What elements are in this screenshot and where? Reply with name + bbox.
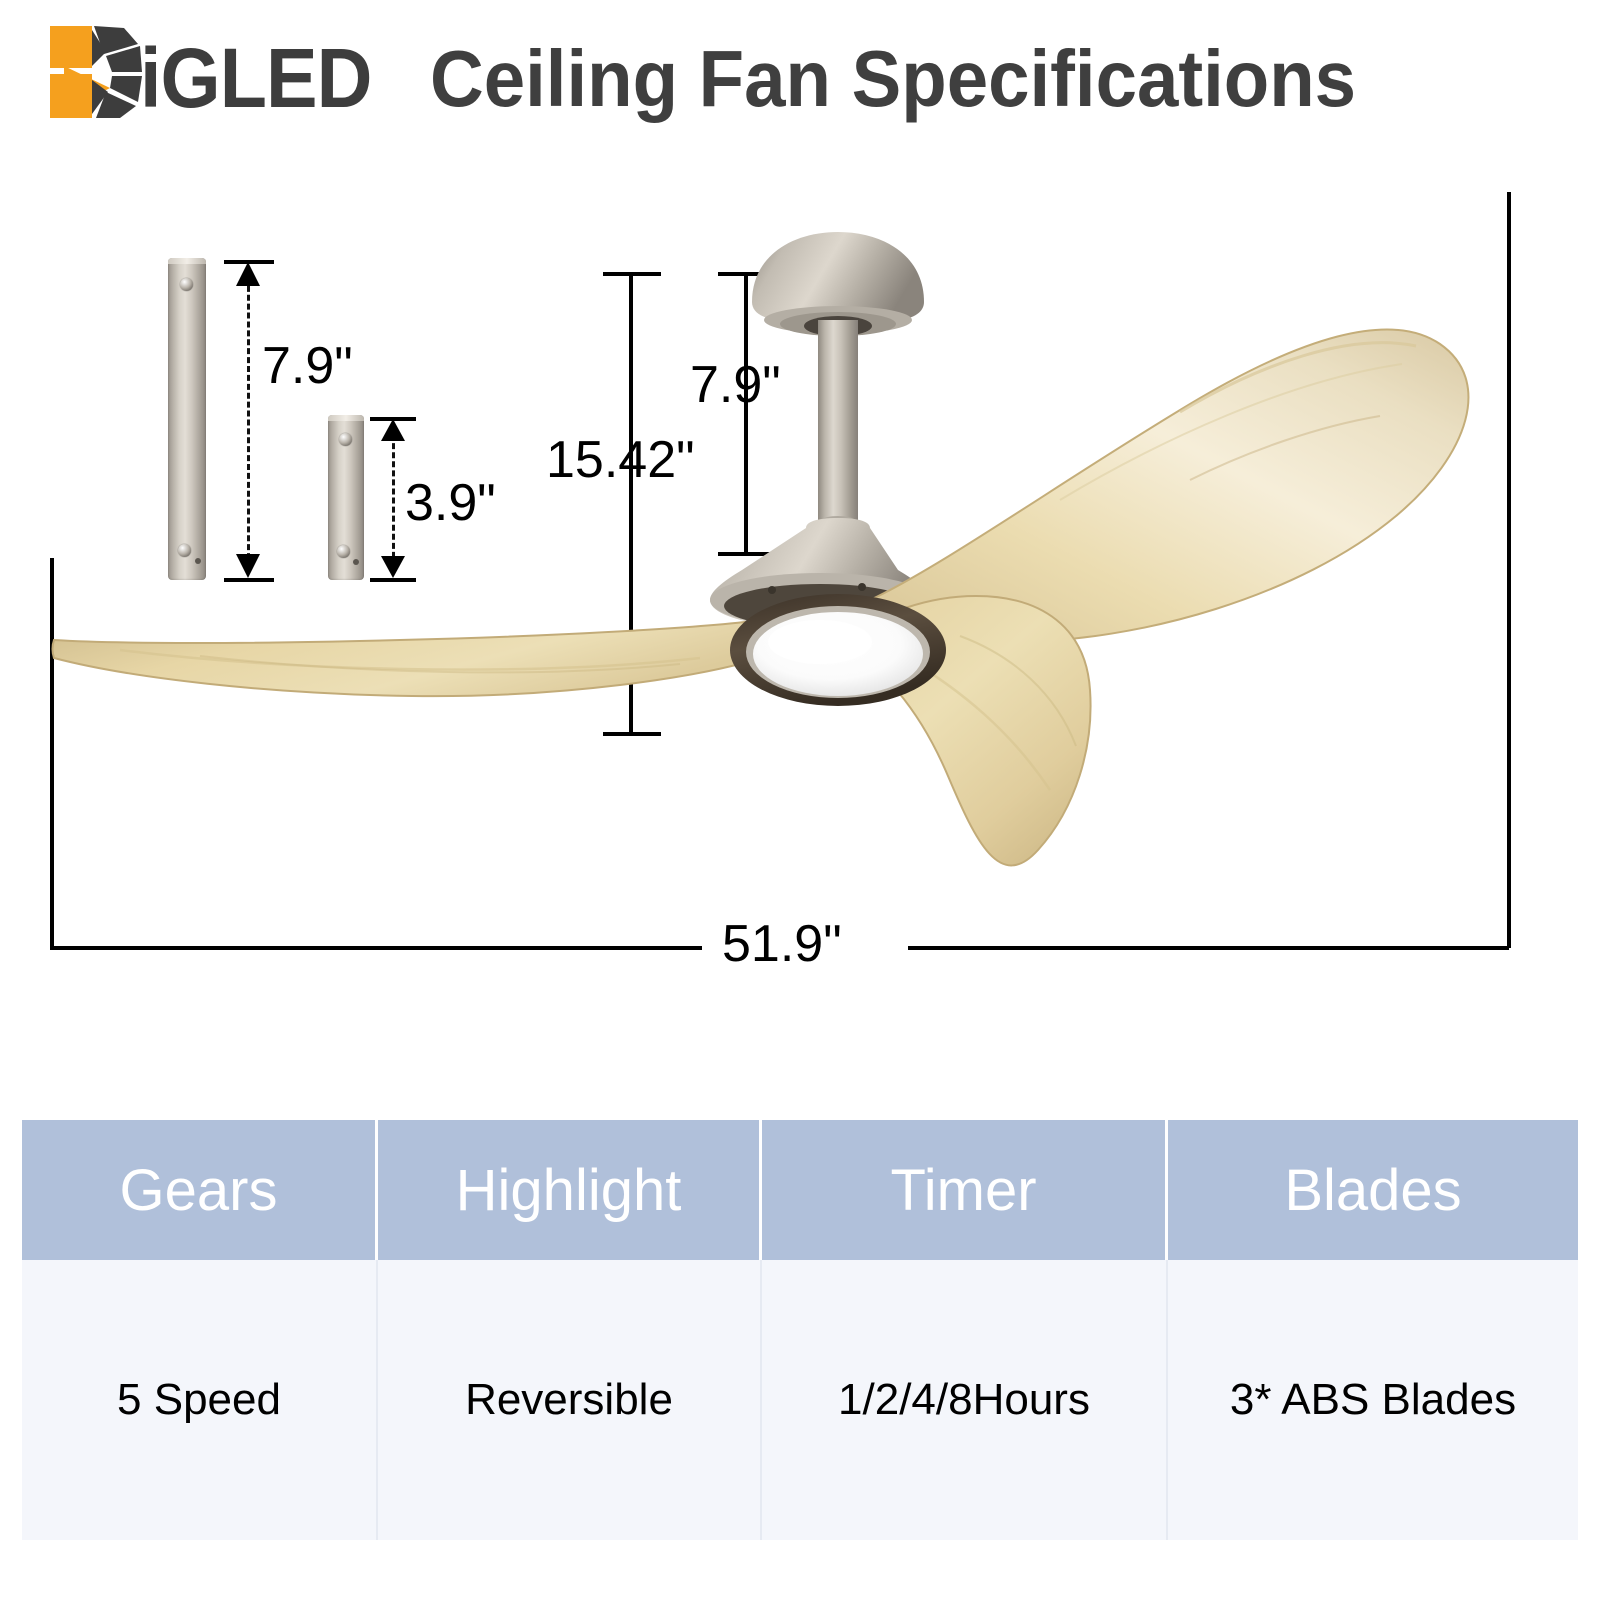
fan-blade-upper-right [866,329,1468,642]
spec-header-gears: Gears [22,1120,378,1260]
spec-table: Gears Highlight Timer Blades 5 Speed Rev… [22,1120,1578,1540]
spec-value-gears: 5 Speed [22,1260,378,1540]
spec-header-timer: Timer [762,1120,1168,1260]
spec-value-blades: 3* ABS Blades [1168,1260,1578,1540]
page-header: iGLED Ceiling Fan Specifications [0,0,1600,150]
fan-blade-left [53,620,769,696]
spec-table-header-row: Gears Highlight Timer Blades [22,1120,1578,1260]
downrod-icon [812,320,864,535]
spec-header-highlight: Highlight [378,1120,762,1260]
ceiling-fan-illustration [0,150,1600,1060]
led-light-icon [730,594,946,706]
product-diagram: 7.9" 3.9" 15.42" 7.9" 51.9" [0,150,1600,1060]
shutter-d-logo-icon [46,22,144,122]
spec-table-data-row: 5 Speed Reversible 1/2/4/8Hours 3* ABS B… [22,1260,1578,1540]
page-title: Ceiling Fan Specifications [430,33,1356,125]
spec-value-highlight: Reversible [378,1260,762,1540]
spec-value-timer: 1/2/4/8Hours [762,1260,1168,1540]
spec-header-blades: Blades [1168,1120,1578,1260]
brand-name: iGLED [140,30,372,127]
